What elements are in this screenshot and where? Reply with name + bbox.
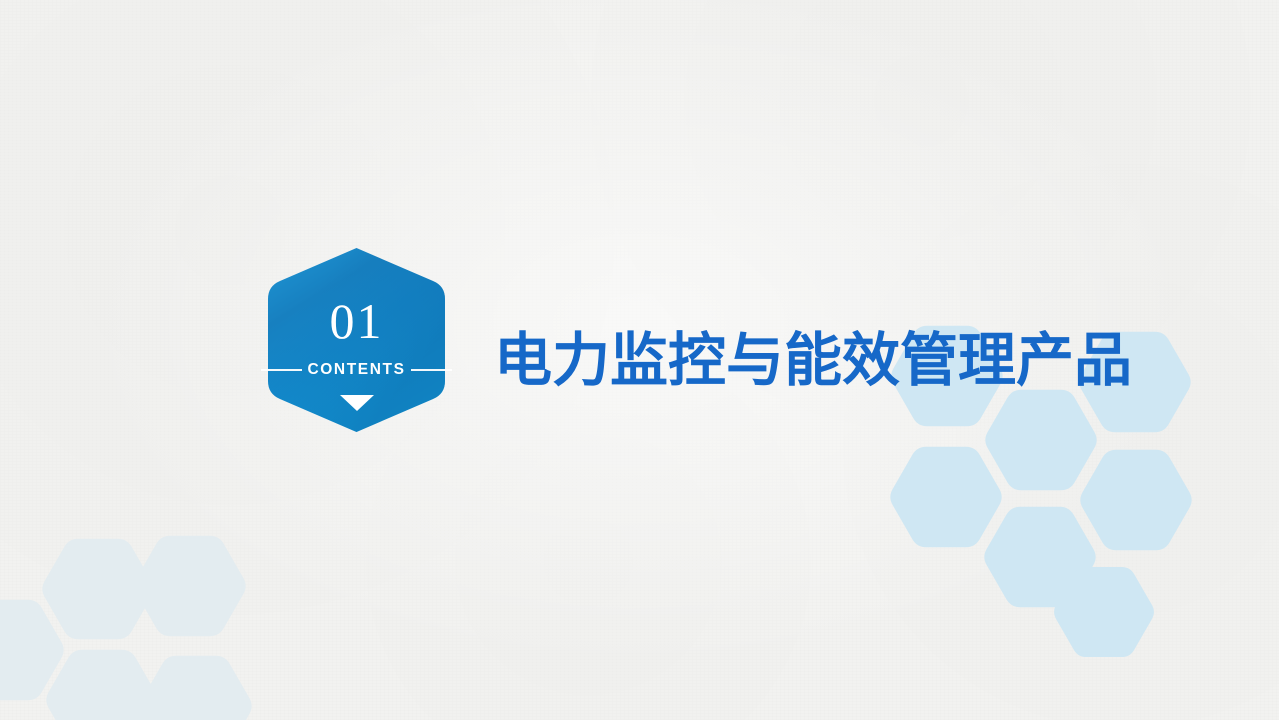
badge-number: 01 [267, 294, 446, 348]
badge-label: CONTENTS [302, 362, 410, 378]
contents-badge[interactable]: 01 CONTENTS [267, 247, 446, 433]
badge-divider-row: CONTENTS [261, 361, 452, 379]
badge-rule-right [411, 369, 452, 371]
slide-canvas: 01 CONTENTS 电力监控与能效管理产品 [0, 0, 1279, 720]
page-title: 电力监控与能效管理产品 [494, 327, 1132, 393]
badge-rule-left [261, 369, 302, 371]
triangle-down-icon [340, 395, 374, 411]
